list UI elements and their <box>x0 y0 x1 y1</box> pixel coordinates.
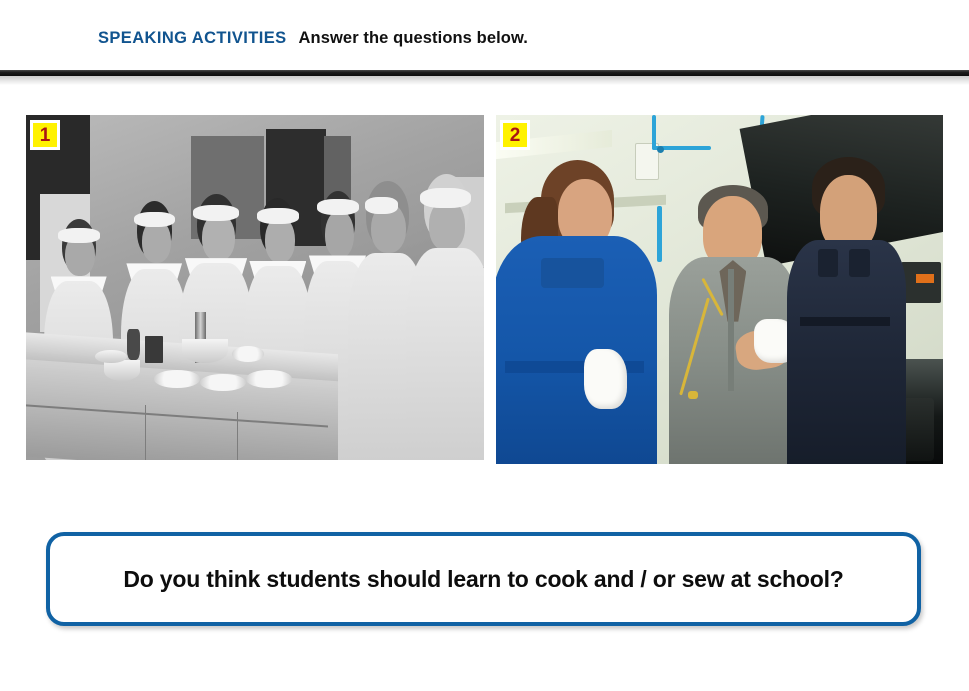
activity-image-1[interactable]: 1 <box>26 115 484 460</box>
section-kicker: SPEAKING ACTIVITIES <box>98 29 287 48</box>
activity-image-2[interactable]: 2 <box>496 115 943 464</box>
question-box[interactable]: Do you think students should learn to co… <box>46 532 921 626</box>
header-divider-shadow <box>0 76 969 85</box>
cookery-class-photo <box>26 115 484 460</box>
question-text: Do you think students should learn to co… <box>99 566 867 593</box>
image-badge-2: 2 <box>500 120 530 150</box>
image-badge-1: 1 <box>30 120 60 150</box>
instruction-text: Answer the questions below. <box>299 29 528 48</box>
auto-workshop-photo <box>496 115 943 464</box>
page-header: SPEAKING ACTIVITIES Answer the questions… <box>98 29 528 48</box>
